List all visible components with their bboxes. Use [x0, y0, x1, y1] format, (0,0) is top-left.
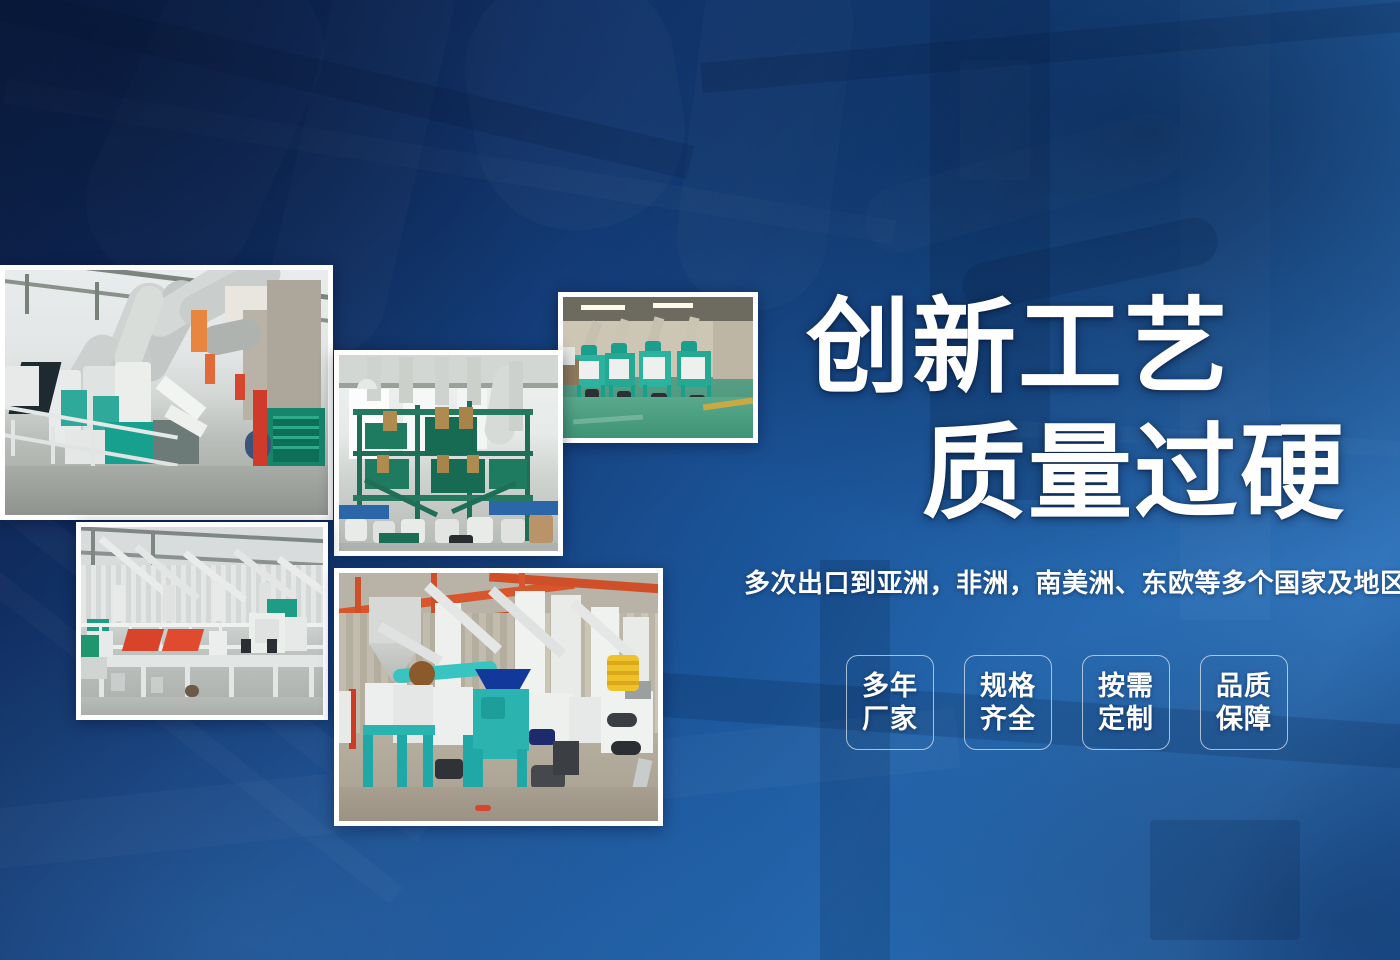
collage-photo-4: [76, 522, 328, 720]
feature-badge-custom-made[interactable]: 按需 定制: [1082, 655, 1170, 750]
feature-badge-full-specs[interactable]: 规格 齐全: [964, 655, 1052, 750]
banner-subtitle: 多次出口到亚洲，非洲，南美洲、东欧等多个国家及地区: [744, 566, 1400, 600]
badge-line-2: 定制: [1098, 703, 1154, 736]
promo-banner: 创新工艺 质量过硬 多次出口到亚洲，非洲，南美洲、东欧等多个国家及地区 多年 厂…: [0, 0, 1400, 960]
collage-photo-1: [0, 265, 333, 520]
collage-photo-2: [334, 350, 563, 556]
badge-line-1: 规格: [980, 670, 1036, 703]
feature-badge-group: 多年 厂家 规格 齐全 按需 定制 品质 保障: [846, 655, 1288, 750]
badge-line-1: 多年: [862, 670, 918, 703]
badge-line-2: 齐全: [980, 703, 1036, 736]
feature-badge-years-manufacturer[interactable]: 多年 厂家: [846, 655, 934, 750]
badge-line-1: 品质: [1216, 670, 1272, 703]
headline-line-2: 质量过硬: [922, 418, 1346, 530]
feature-badge-quality-guarantee[interactable]: 品质 保障: [1200, 655, 1288, 750]
badge-line-1: 按需: [1098, 670, 1154, 703]
badge-line-2: 厂家: [862, 703, 918, 736]
headline-line-1: 创新工艺: [806, 292, 1230, 404]
badge-line-2: 保障: [1216, 703, 1272, 736]
collage-photo-5: [334, 568, 663, 826]
collage-photo-3: [558, 292, 758, 443]
